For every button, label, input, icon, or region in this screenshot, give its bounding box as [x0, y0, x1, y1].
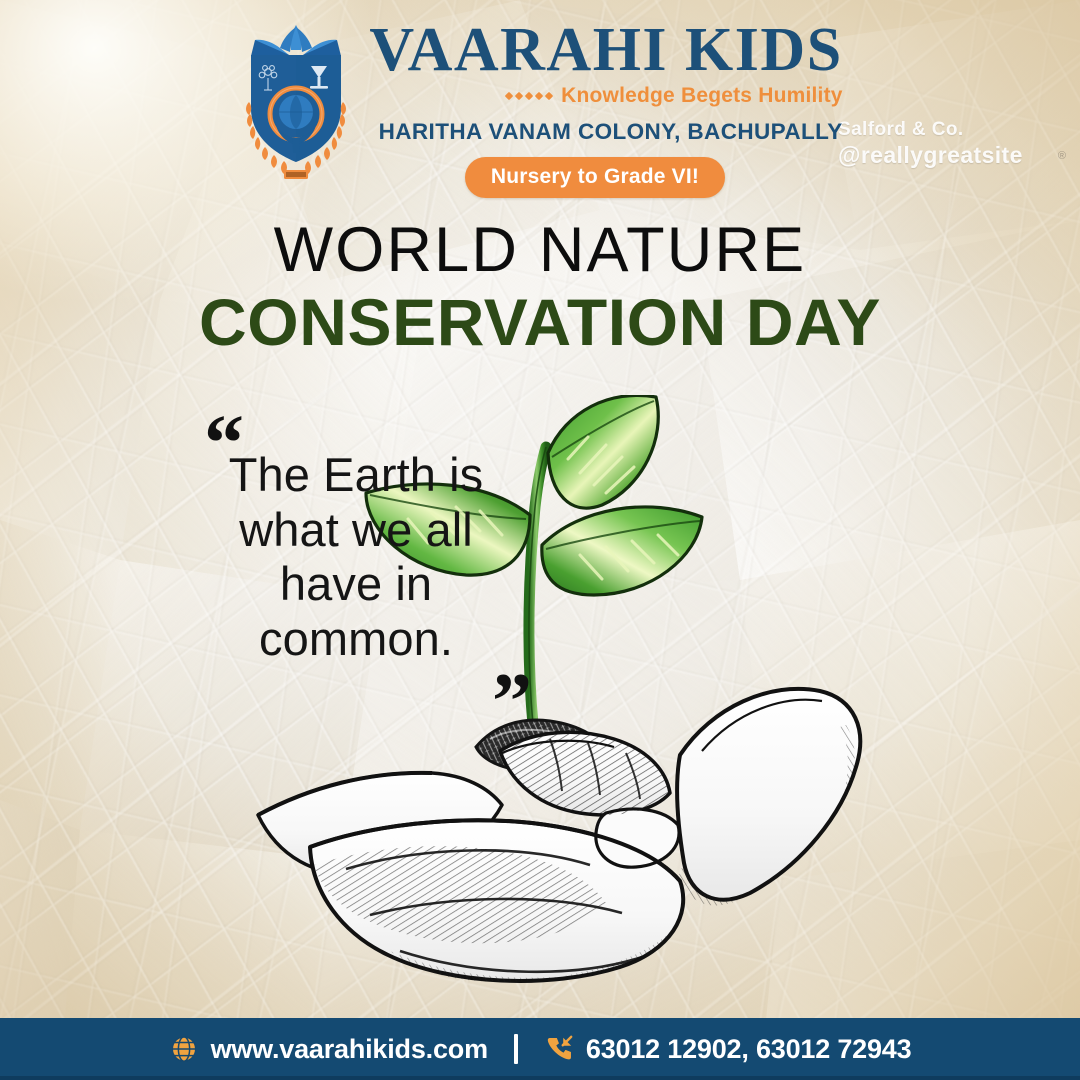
- crest-shield-icon: [237, 22, 355, 182]
- diamond-dots-icon: [506, 93, 552, 99]
- footer-bar: www.vaarahikids.com 63012 12902, 63012 7…: [0, 1018, 1080, 1080]
- brand-wordmark: VAARAHI KIDS: [369, 20, 842, 81]
- footer-website-item[interactable]: www.vaarahikids.com: [169, 1034, 488, 1065]
- globe-icon: [169, 1034, 199, 1064]
- brand-tagline-row: Knowledge Begets Humility: [506, 84, 843, 108]
- footer-website: www.vaarahikids.com: [211, 1034, 488, 1065]
- brand-text-block: VAARAHI KIDS Knowledge Begets Humility H…: [369, 18, 842, 198]
- footer-phone-item[interactable]: 63012 12902, 63012 72943: [544, 1034, 912, 1065]
- poster-canvas: Salford & Co. @reallygreatsite: [0, 0, 1080, 1080]
- phone-incoming-icon: [544, 1034, 574, 1064]
- title-line-2: CONSERVATION DAY: [0, 288, 1080, 357]
- footer-divider: [514, 1034, 518, 1064]
- hand-icon: [258, 689, 860, 982]
- quote-block: “ The Earth is what we all have in commo…: [188, 406, 524, 666]
- grade-range-badge: Nursery to Grade VI!: [465, 157, 725, 198]
- title-line-1: WORLD NATURE: [0, 218, 1080, 284]
- header-logo-lockup: VAARAHI KIDS Knowledge Begets Humility H…: [0, 18, 1080, 198]
- registered-mark: ®: [1058, 150, 1066, 162]
- footer-phones: 63012 12902, 63012 72943: [586, 1034, 912, 1065]
- brand-tagline: Knowledge Begets Humility: [561, 84, 843, 108]
- school-address: HARITHA VANAM COLONY, BACHUPALLY: [379, 119, 843, 145]
- page-title: WORLD NATURE CONSERVATION DAY: [0, 218, 1080, 356]
